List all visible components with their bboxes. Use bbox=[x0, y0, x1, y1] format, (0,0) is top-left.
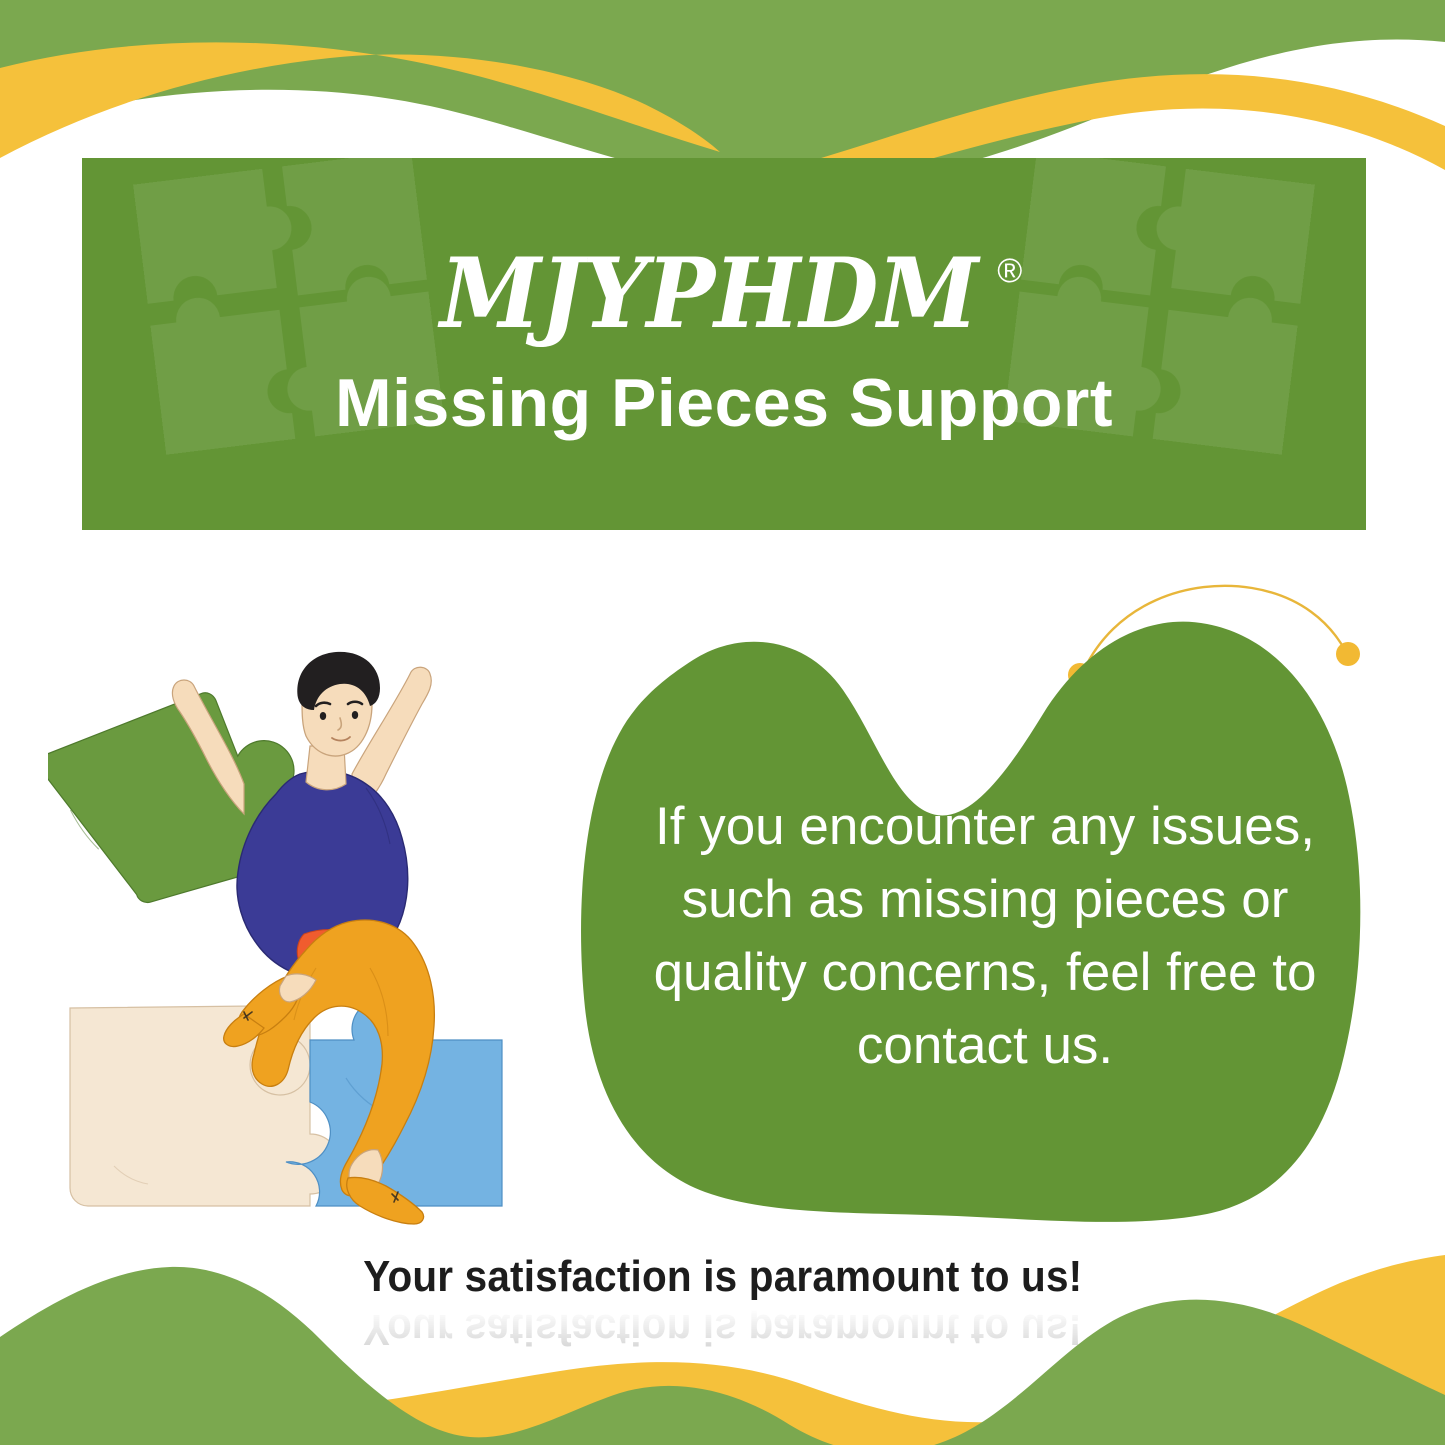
person-eye-left bbox=[320, 712, 326, 720]
top-wave-yellow-swoosh-right bbox=[760, 74, 1445, 170]
header-banner: MJYPHDM ® Missing Pieces Support bbox=[82, 158, 1366, 530]
top-wave-yellow-swoosh bbox=[0, 42, 720, 158]
banner-subtitle: Missing Pieces Support bbox=[335, 364, 1113, 442]
top-wave-decoration bbox=[0, 0, 1445, 170]
support-message: If you encounter any issues, such as mis… bbox=[615, 790, 1355, 1083]
top-wave-green-shape bbox=[0, 0, 1445, 170]
brand-lockup: MJYPHDM ® bbox=[426, 246, 1023, 342]
tagline-reflection: Your satisfaction is paramount to us! bbox=[58, 1304, 1387, 1354]
puzzle-celebration-illustration bbox=[48, 578, 548, 1233]
brand-name: MJYPHDM bbox=[440, 246, 977, 342]
person-eye-right bbox=[352, 711, 358, 719]
message-blob-container: If you encounter any issues, such as mis… bbox=[575, 600, 1385, 1225]
tagline-container: Your satisfaction is paramount to us! Yo… bbox=[0, 1252, 1445, 1354]
registered-trademark-icon: ® bbox=[997, 254, 1022, 288]
tagline-text: Your satisfaction is paramount to us! bbox=[363, 1252, 1082, 1302]
